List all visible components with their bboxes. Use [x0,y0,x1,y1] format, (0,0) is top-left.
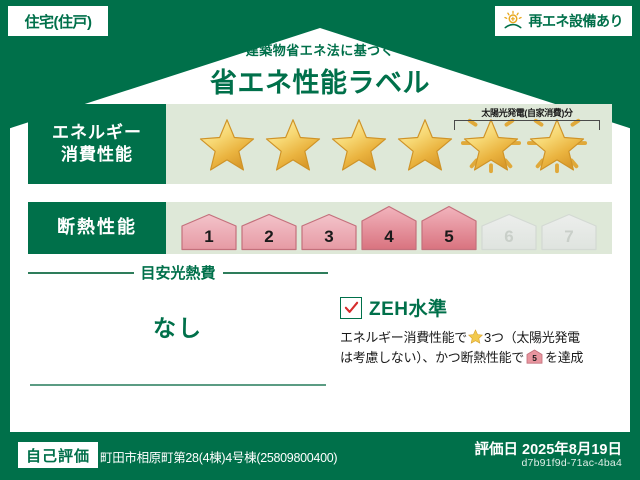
heading-rule-right [223,272,329,274]
zeh-desc-part3: を達成 [545,350,583,365]
star-glyph [266,120,319,170]
utility-cost-heading: 目安光熱費 [28,262,328,283]
mini-grade-badge: 5 [526,349,543,364]
star-3 [328,113,390,175]
insulation-grade-6: 6 [480,213,538,251]
evaluation-id: d7b91f9d-71ac-4ba4 [362,457,622,469]
utility-cost-section: 目安光熱費 なし [28,262,328,343]
page-title: 省エネ性能ラベル [0,61,640,100]
utility-cost-heading-text: 目安光熱費 [141,262,216,283]
energy-row-label-line1: エネルギー [52,122,142,144]
category-tag: 住宅(住戸) [8,6,108,36]
insulation-performance-row: 断熱性能 1234567 [28,202,612,254]
mini-star-icon [468,329,483,344]
star-glyph [398,120,451,170]
zeh-desc-part2: は考慮しない）、かつ断熱性能で [340,350,524,365]
zeh-heading: ZEH水準 [340,294,612,321]
heading-rule-left [28,272,134,274]
title-subtitle: 建築物省エネ法に基づく [0,40,640,59]
star-2 [262,113,324,175]
grade-number: 7 [540,227,598,247]
mini-grade-value: 5 [532,353,537,363]
zeh-desc-stars: 3つ（太陽光発電 [484,330,580,345]
star-glyph [200,120,253,170]
zeh-desc-part1: エネルギー消費性能で [340,330,467,345]
insulation-row-label: 断熱性能 [28,202,166,254]
insulation-grade-2: 2 [240,213,298,251]
energy-row-label-line2: 消費性能 [61,144,133,166]
insulation-grade-3: 3 [300,213,358,251]
utility-cost-divider [30,384,326,386]
insulation-row-body: 1234567 [166,202,612,254]
insulation-grade-4: 4 [360,205,418,251]
category-tag-label: 住宅(住戸) [25,11,92,32]
energy-performance-label: 住宅(住戸) 再エネ設備あり 建築物省エネ法に基づく 省エネ性能ラベル [0,0,640,480]
star-4 [394,113,456,175]
insulation-grade-5: 5 [420,205,478,251]
grade-number: 3 [300,227,358,247]
insulation-grade-scale: 1234567 [166,202,612,254]
evaluation-date: 評価日 2025年8月19日 [362,438,622,459]
star-glyph [332,120,385,170]
check-icon [344,300,359,315]
zeh-description: エネルギー消費性能で 3つ（太陽光発電 は考慮しない）、かつ断熱性能で 5 を達… [340,328,612,368]
self-evaluation-tag: 自己評価 [18,442,98,468]
zeh-checkbox [340,297,362,319]
grade-number: 1 [180,227,238,247]
solar-bracket-line [454,120,600,130]
self-evaluation-label: 自己評価 [26,445,90,466]
energy-performance-row: エネルギー 消費性能 太陽光発電(自家消費)分 [28,104,612,184]
grade-number: 6 [480,227,538,247]
star-1 [196,113,258,175]
zeh-section: ZEH水準 エネルギー消費性能で 3つ（太陽光発電 は考慮しない）、かつ断熱性能… [340,294,612,368]
energy-row-body: 太陽光発電(自家消費)分 [166,104,612,184]
insulation-grade-1: 1 [180,213,238,251]
renewable-energy-badge: 再エネ設備あり [495,6,633,36]
title-block: 建築物省エネ法に基づく 省エネ性能ラベル [0,40,640,100]
solar-bracket-label: 太陽光発電(自家消費)分 [454,106,600,119]
energy-row-label: エネルギー 消費性能 [28,104,166,184]
sun-icon [502,10,524,32]
utility-cost-value: なし [28,309,328,343]
insulation-grade-7: 7 [540,213,598,251]
grade-number: 5 [420,227,478,247]
footer: 自己評価 町田市相原町第28(4棟)4号棟(25809800400) 評価日 2… [0,432,640,480]
grade-number: 2 [240,227,298,247]
renewable-badge-label: 再エネ設備あり [529,11,624,31]
property-address: 町田市相原町第28(4棟)4号棟(25809800400) [100,447,337,466]
insulation-row-label-text: 断熱性能 [57,216,137,239]
grade-number: 4 [360,227,418,247]
zeh-title: ZEH水準 [369,294,448,321]
solar-bracket: 太陽光発電(自家消費)分 [454,106,600,132]
